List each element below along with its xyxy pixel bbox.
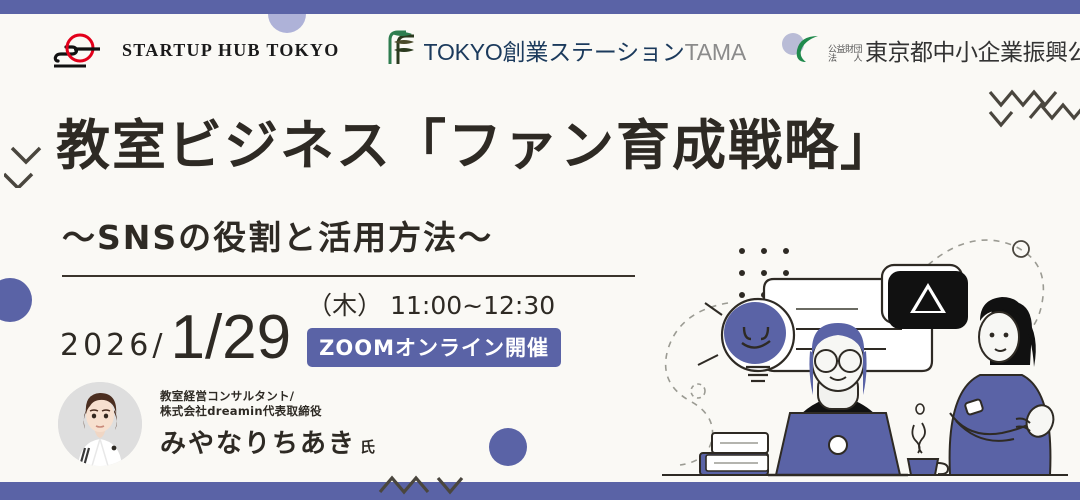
bottom-zigzag-decoration bbox=[378, 470, 498, 498]
speaker-avatar bbox=[58, 382, 142, 466]
meeting-illustration bbox=[650, 225, 1080, 490]
logo-tokyo-sogyo-station-tama: TOKYO創業ステーションTAMA bbox=[382, 27, 746, 73]
logo-startup-hub-tokyo-text: STARTUP HUB TOKYO bbox=[122, 40, 340, 61]
coffee-mug bbox=[908, 404, 948, 475]
event-weekday-time: （木） 11:00~12:30 bbox=[307, 286, 561, 322]
logo-tokyo-chusho-kigyo: 公益財団法 人東京都中小企業振興公社 bbox=[778, 27, 1080, 73]
speaker-text-block: 教室経営コンサルタント/ 株式会社dreamin代表取締役 みやなりちあき氏 bbox=[160, 389, 375, 460]
speaker-block: 教室経営コンサルタント/ 株式会社dreamin代表取締役 みやなりちあき氏 bbox=[58, 382, 375, 466]
leaf-circle-mark-icon bbox=[778, 30, 822, 71]
stacked-books bbox=[700, 433, 768, 475]
event-banner: STARTUP HUB TOKYO TOKYO創業ステーションTAMA bbox=[0, 0, 1080, 500]
speaker-name-block: みやなりちあき氏 bbox=[160, 423, 375, 460]
top-accent-bar bbox=[0, 0, 1080, 14]
logo-tokyo-sogyo-station-tama-text: TOKYO創業ステーションTAMA bbox=[424, 33, 746, 67]
partner-logos-row: STARTUP HUB TOKYO TOKYO創業ステーションTAMA bbox=[0, 22, 1080, 78]
logo-tama-suffix: TAMA bbox=[685, 39, 746, 65]
event-year: 2026/ bbox=[60, 328, 166, 369]
zoom-online-badge: ZOOMオンライン開催 bbox=[307, 328, 561, 367]
top-right-zigzag-decoration bbox=[988, 88, 1080, 132]
title-divider bbox=[62, 275, 635, 277]
purple-dot-mid-decoration bbox=[489, 428, 527, 466]
logo-prefix: 公益財団法 人 bbox=[828, 45, 862, 63]
speaker-name-suffix: 氏 bbox=[360, 438, 375, 456]
speaker-role-line2: 株式会社dreamin代表取締役 bbox=[160, 404, 375, 419]
speaker-role-line1: 教室経営コンサルタント/ bbox=[160, 389, 375, 404]
event-day: 1/29 bbox=[170, 307, 291, 369]
event-date-row: 2026/ 1/29 （木） 11:00~12:30 ZOOMオンライン開催 bbox=[60, 286, 561, 369]
play-button-card bbox=[882, 265, 968, 329]
speaker-name: みやなりちあき bbox=[160, 429, 356, 459]
event-time-block: （木） 11:00~12:30 ZOOMオンライン開催 bbox=[307, 286, 561, 369]
event-title: 教室ビジネス「ファン育成戦略」 bbox=[56, 116, 896, 176]
purple-dot-left-decoration bbox=[0, 278, 32, 322]
leaf-mark-icon bbox=[382, 28, 418, 73]
logo-startup-hub-tokyo: STARTUP HUB TOKYO bbox=[52, 27, 340, 73]
left-chevrons-decoration bbox=[4, 140, 48, 188]
so-circle-mark-icon bbox=[52, 31, 118, 69]
logo-tokyo-chusho-kigyo-text: 公益財団法 人東京都中小企業振興公社 bbox=[828, 33, 1080, 67]
event-subtitle: ～SNSの役割と活用方法～ bbox=[62, 218, 493, 258]
